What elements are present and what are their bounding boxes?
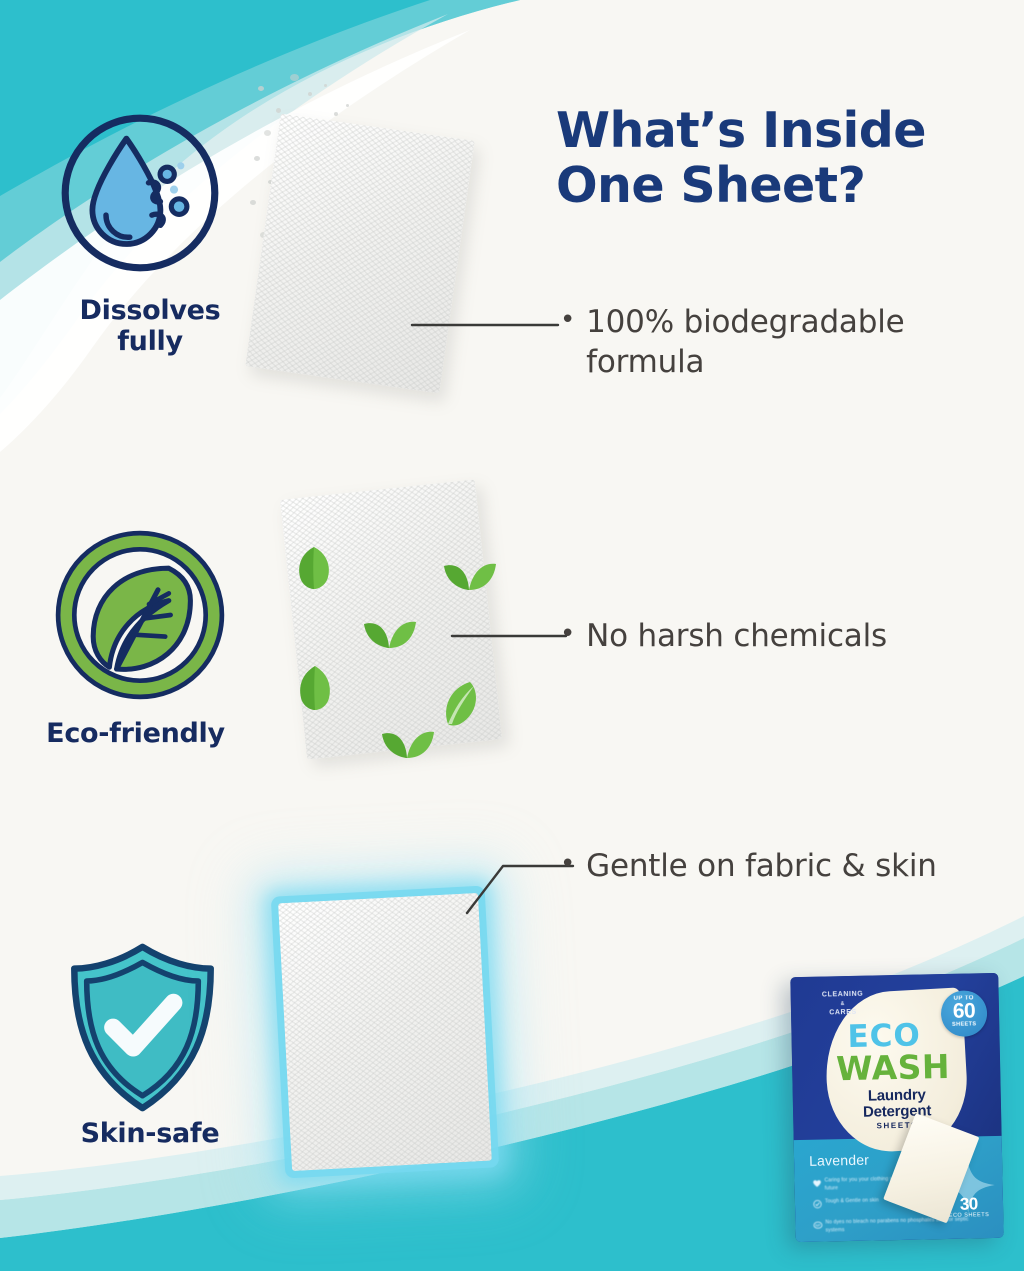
leaf-decor-4 — [294, 662, 336, 712]
leaf-decor-3 — [360, 608, 418, 652]
bullet-marker: • — [560, 303, 575, 382]
bullet-marker: • — [560, 847, 575, 887]
leaf-circle-icon — [50, 525, 230, 705]
shield-check-icon — [65, 940, 220, 1115]
package-brand: CLEANING & CARES — [804, 989, 883, 1019]
certification-icon: NP — [813, 1221, 822, 1230]
detergent-sheet-glowing — [278, 893, 492, 1171]
leaf-decor-2 — [440, 550, 498, 594]
feature-label-line-1: Skin-safe — [25, 1118, 275, 1149]
feature-label-dissolves: Dissolves fully — [25, 295, 275, 357]
feature-label-eco: Eco-friendly — [8, 718, 263, 749]
water-drop-icon — [55, 108, 225, 278]
package-subtitle: Laundry Detergent — [793, 1086, 1002, 1122]
feature-label-line-1: Eco-friendly — [8, 718, 263, 749]
brand-ampersand: & — [804, 1000, 882, 1009]
svg-text:NP: NP — [815, 1224, 821, 1228]
leaf-decor-6 — [378, 718, 436, 762]
connector-line-1 — [408, 312, 568, 338]
bullet-item-3: • Gentle on fabric & skin — [560, 847, 1000, 887]
product-package: CLEANING & CARES UP TO 60 SHEETS ECO WAS… — [790, 973, 1004, 1242]
package-scent: Lavender — [809, 1152, 869, 1169]
badge-top-text: UP TO — [941, 995, 987, 1002]
bullet-item-1: • 100% biodegradable formula — [560, 303, 980, 382]
feature-label-line-2: fully — [25, 326, 275, 357]
package-name-wash: WASH — [836, 1050, 951, 1085]
leaf-decor-5 — [440, 680, 488, 728]
connector-line-2 — [448, 623, 578, 649]
badge-count: 60 — [941, 1001, 987, 1022]
bullet-item-2: • No harsh chemicals — [560, 617, 980, 657]
page-title: What’s Inside One Sheet? — [556, 104, 1006, 214]
bullet-text: 100% biodegradable formula — [586, 303, 980, 382]
leaf-decor-1 — [293, 543, 335, 591]
bullet-text: Gentle on fabric & skin — [586, 847, 937, 887]
detergent-sheet-dissolving — [245, 114, 475, 394]
title-line-1: What’s Inside — [556, 102, 926, 159]
feature-label-skin-safe: Skin-safe — [25, 1118, 275, 1149]
brand-line-1: CLEANING — [822, 991, 863, 999]
bullet-text: No harsh chemicals — [586, 617, 887, 657]
badge-unit: SHEETS — [941, 1021, 987, 1028]
brand-line-2: CARES — [829, 1009, 857, 1017]
infographic-canvas: What’s Inside One Sheet? Dissolves fully — [0, 0, 1024, 1271]
check-circle-icon — [813, 1200, 822, 1209]
heart-icon — [812, 1179, 821, 1188]
title-line-2: One Sheet? — [556, 159, 1006, 214]
package-count-label: ECO SHEETS — [949, 1212, 990, 1219]
bullet-marker: • — [560, 617, 575, 657]
feature-label-line-1: Dissolves — [25, 295, 275, 326]
